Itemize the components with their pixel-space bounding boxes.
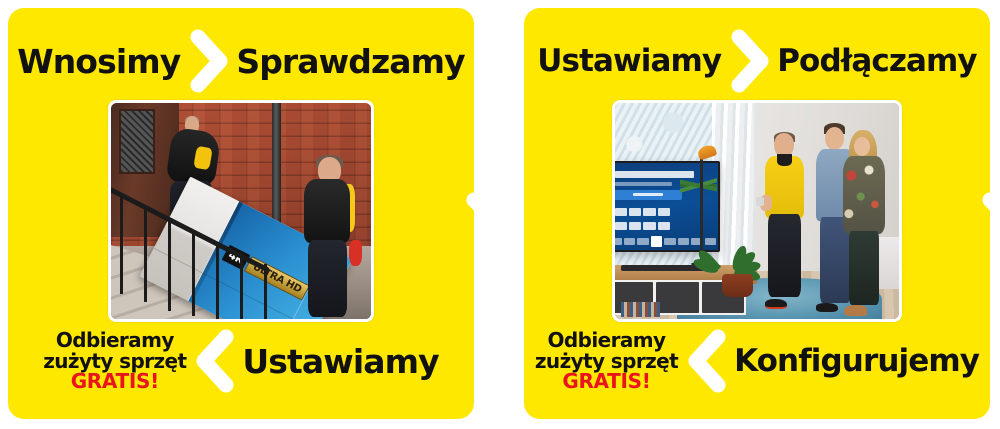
stand-cube [656,282,698,313]
chevron-right-icon [186,29,230,93]
railing-post [264,264,267,319]
customer-woman-floral-blouse [843,156,885,234]
customer-man-shoe [816,303,838,312]
worker-lower-red-glove [349,240,362,266]
card-right: Ustawiamy Podłączamy [524,8,990,419]
tv-remote [756,197,764,206]
left-step-1-label: Wnosimy [17,45,180,78]
right-step-3-label: Konfigurujemy [734,346,979,377]
chevron-left-icon [684,329,730,393]
right-top-step-row: Ustawiamy Podłączamy [524,30,990,92]
right-pickup-free-badge: GRATIS! [535,371,678,392]
photo-tv-setup-image [615,103,899,319]
tv-screen-input-field [615,190,682,200]
customer-woman-trousers [849,231,879,305]
plant-pot [722,274,753,298]
railing-post [240,253,243,319]
tv-key [664,238,675,245]
railing-post [192,231,195,317]
chevron-right-icon [727,29,771,93]
shelf-books [621,302,661,317]
railing-post [168,219,171,310]
left-step-2-label: Sprawdzamy [236,45,464,78]
tv-key [615,238,622,245]
left-pickup-line-1: Odbieramy [43,330,186,351]
tv-screen-subtitle-bar [615,182,672,186]
tv-screen-option [629,208,641,216]
tv-screen-option [629,222,641,230]
worker-lower-black-vest [304,179,349,243]
left-pickup-note: Odbieramy zużyty sprzęt GRATIS! [43,330,186,392]
left-pickup-free-badge: GRATIS! [43,371,186,392]
card-left: Wnosimy Sprawdzamy [8,8,474,419]
tv-screen-option [615,208,627,216]
service-steps-board: Wnosimy Sprawdzamy [0,0,1000,429]
right-pickup-line-1: Odbieramy [535,330,678,351]
floor-lamp [700,155,703,263]
tv-key [678,238,689,245]
right-step-2-label: Podłączamy [777,46,976,77]
door-grate [119,109,155,174]
left-top-step-row: Wnosimy Sprawdzamy [8,30,474,92]
potted-palm [709,207,766,298]
photo-carrying-tv-box: 4K ULTRA HD [108,100,374,322]
worker-lower-legs [308,240,347,317]
tv-screen-option [658,208,670,216]
right-step-1-label: Ustawiamy [537,46,721,77]
tv-key-selected [651,236,662,247]
right-pickup-line-2: zużyty sprzęt [535,351,678,372]
left-pickup-line-2: zużyty sprzęt [43,351,186,372]
tv-key [624,238,635,245]
tv-screen-option [615,222,627,230]
worker-lower [301,157,361,317]
tv-key [637,238,648,245]
chevron-left-icon [192,329,238,393]
tv-screen-option-row [615,222,670,230]
left-step-3-label: Ustawiamy [242,345,438,378]
stair-railing [111,181,277,319]
tv-screen-option [658,222,670,230]
tv-screen-option [643,208,655,216]
photo-carrying-tv-box-image: 4K ULTRA HD [111,103,371,319]
right-pickup-note: Odbieramy zużyty sprzęt GRATIS! [535,330,678,392]
customer-woman-shoe [844,305,867,316]
tv-screen-option [643,222,655,230]
railing-post [216,242,219,319]
railing-post [144,208,147,302]
technician-work-pants [768,214,801,297]
tv-screen-option-row [615,208,670,216]
customer-woman [842,133,887,310]
chevron-down-icon [982,190,990,236]
technician-collar [777,154,792,166]
technician [763,133,808,306]
railing-top-bar [111,181,270,273]
technician-shoe [765,299,787,309]
chevron-down-icon [466,190,474,236]
left-bottom-step-row: Odbieramy zużyty sprzęt GRATIS! Ustawiam… [8,319,474,403]
right-bottom-step-row: Odbieramy zużyty sprzęt GRATIS! Konfigur… [524,319,990,403]
railing-post [120,197,123,294]
photo-tv-setup-living-room [612,100,902,322]
